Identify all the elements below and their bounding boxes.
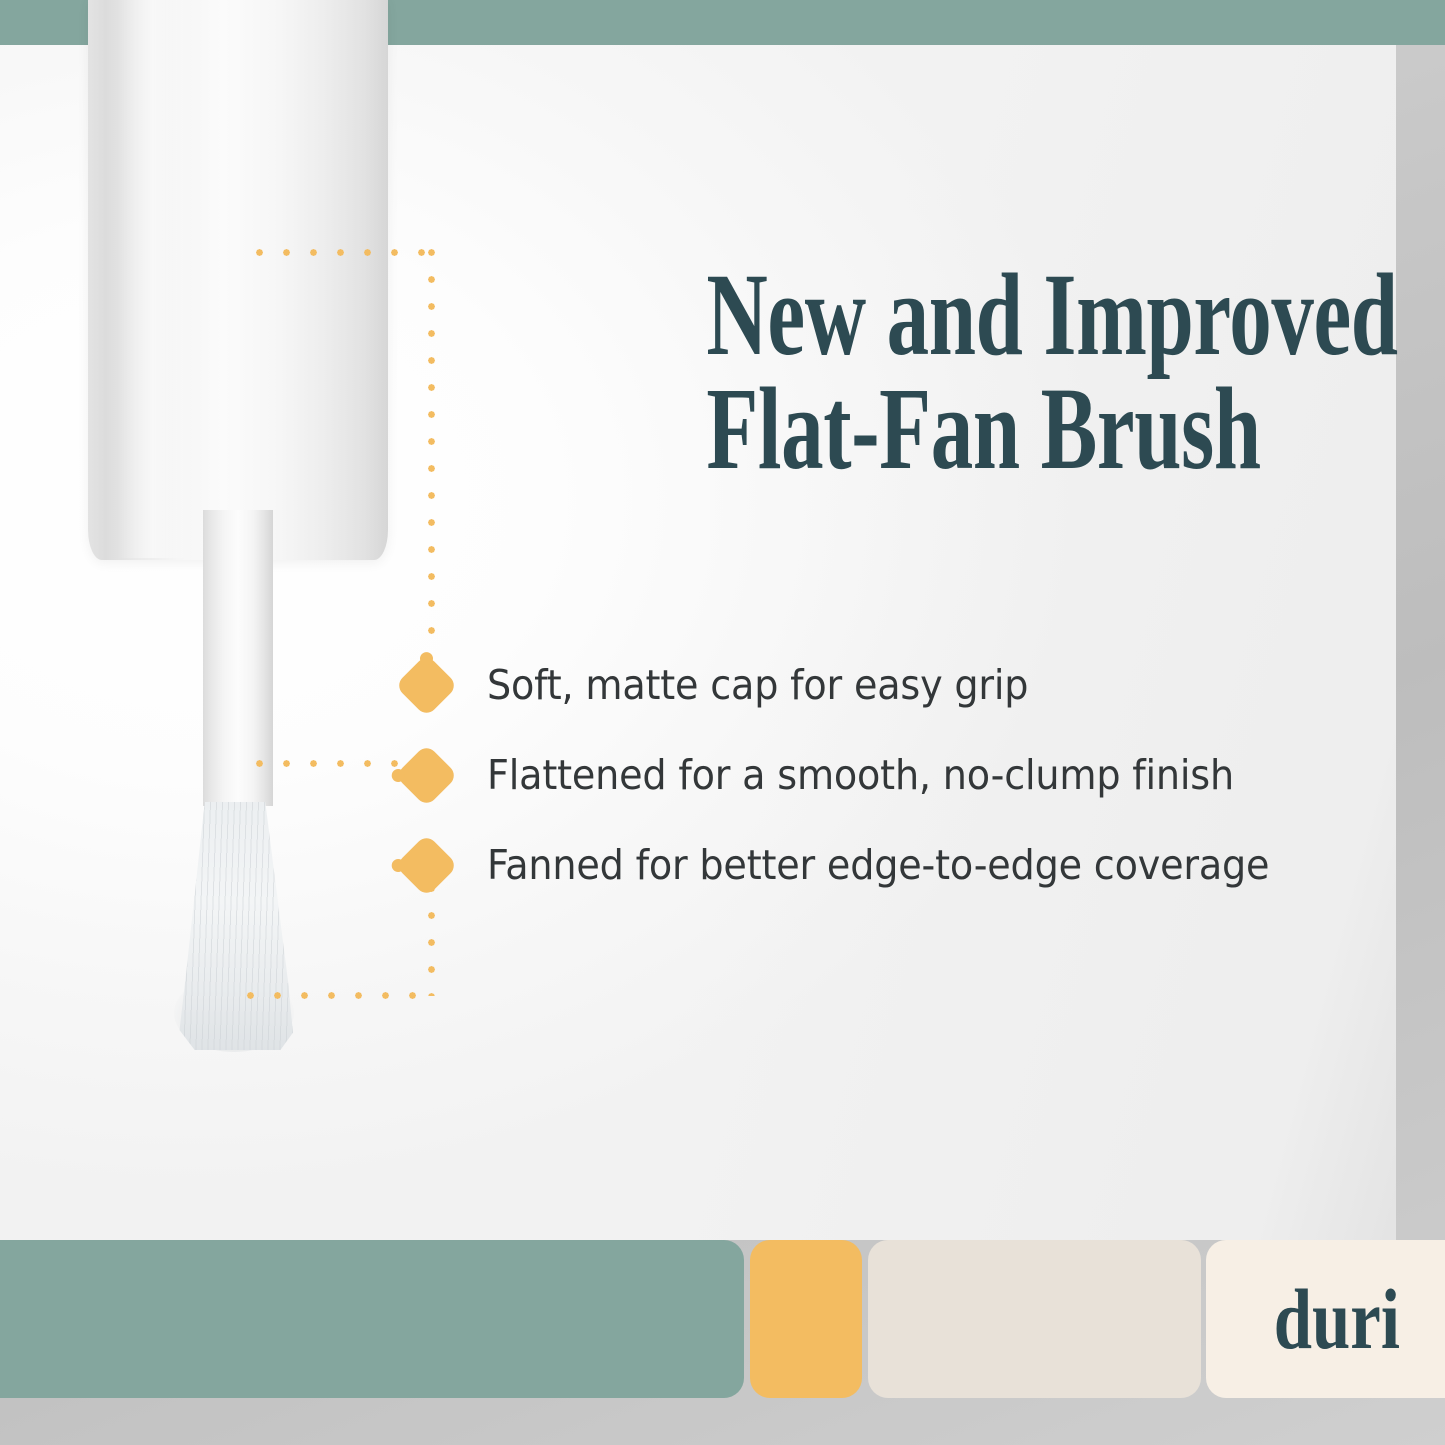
feature-label: Flattened for a smooth, no-clump finish [487, 751, 1234, 799]
connector-nub [417, 649, 435, 667]
product-photo [0, 44, 430, 1054]
list-item: Fanned for better edge-to-edge coverage [404, 820, 1394, 910]
connector-stem-horizontal [255, 759, 415, 768]
brand-segment-beige [868, 1240, 1201, 1398]
headline-line-1: New and Improved [706, 258, 1253, 372]
cap-highlight [118, 0, 188, 558]
feature-label: Soft, matte cap for easy grip [487, 661, 1028, 709]
brand-bar: duri [0, 1240, 1445, 1398]
headline-line-2: Flat-Fan Brush [706, 372, 1253, 486]
infographic-canvas: New and Improved Flat-Fan Brush Soft, ma… [0, 0, 1445, 1445]
brand-segment-green [0, 1240, 744, 1398]
diamond-bullet-icon [395, 743, 459, 807]
connector-cap-horizontal [255, 248, 436, 257]
feature-list: Soft, matte cap for easy grip Flattened … [404, 640, 1394, 910]
connector-bristles-horizontal [246, 991, 436, 1000]
page-title: New and Improved Flat-Fan Brush [706, 258, 1253, 487]
list-item: Flattened for a smooth, no-clump finish [404, 730, 1394, 820]
brand-segment-amber [750, 1240, 862, 1398]
diamond-bullet-icon [395, 833, 459, 897]
brand-logo-text: duri [1274, 1269, 1400, 1369]
list-item: Soft, matte cap for easy grip [404, 640, 1394, 730]
connector-cap-vertical [427, 248, 436, 648]
brush-bristles-image [172, 802, 298, 1050]
diamond-bullet-icon [395, 653, 459, 717]
feature-label: Fanned for better edge-to-edge coverage [487, 841, 1269, 889]
brand-logo: duri [1206, 1240, 1445, 1398]
